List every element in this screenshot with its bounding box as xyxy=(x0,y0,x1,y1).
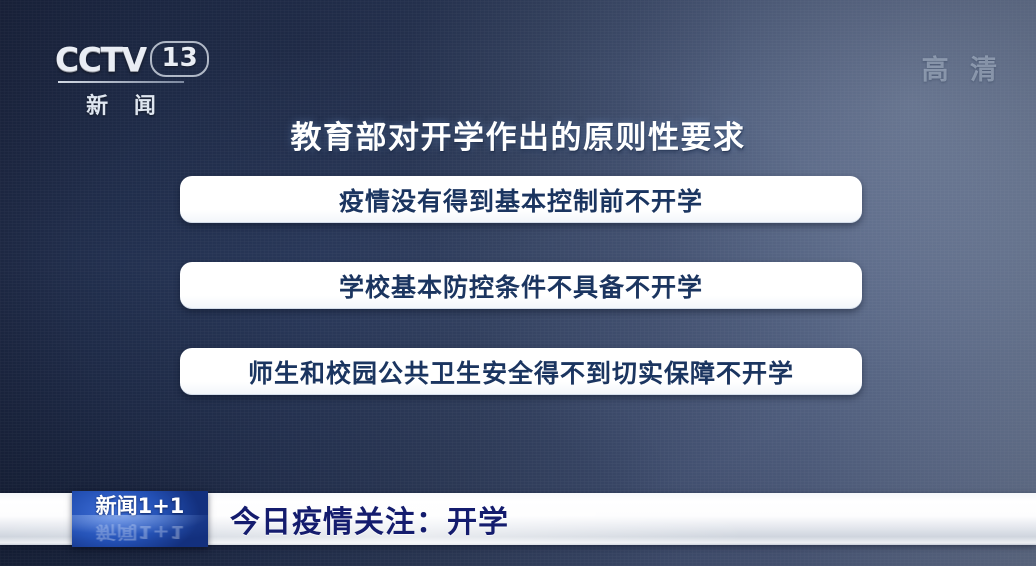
cctv-logo-underline xyxy=(58,81,184,83)
program-logo-glow xyxy=(72,515,208,541)
lower-third-headline: 今日疫情关注：开学 xyxy=(230,491,509,547)
lower-third-banner: 新闻1+1 新闻1+1 今日疫情关注：开学 xyxy=(0,491,1036,547)
program-logo-block: 新闻1+1 新闻1+1 xyxy=(72,491,208,547)
cctv-channel-number-badge: 13 xyxy=(150,41,209,77)
bullet-item-2: 学校基本防控条件不具备不开学 xyxy=(180,262,862,309)
bullet-item-1: 疫情没有得到基本控制前不开学 xyxy=(180,176,862,223)
cctv-wordmark: CCTV xyxy=(55,43,146,76)
bullet-list: 疫情没有得到基本控制前不开学 学校基本防控条件不具备不开学 师生和校园公共卫生安… xyxy=(180,176,862,395)
bullet-item-3-label: 师生和校园公共卫生安全得不到切实保障不开学 xyxy=(248,354,794,390)
hd-quality-watermark: 高 清 xyxy=(922,48,1003,87)
slide-title: 教育部对开学作出的原则性要求 xyxy=(0,112,1036,157)
broadcast-screenshot: CCTV 13 新 闻 高 清 教育部对开学作出的原则性要求 疫情没有得到基本控… xyxy=(0,0,1036,566)
bullet-item-2-label: 学校基本防控条件不具备不开学 xyxy=(339,268,703,304)
bullet-item-3: 师生和校园公共卫生安全得不到切实保障不开学 xyxy=(180,348,862,395)
bullet-item-1-label: 疫情没有得到基本控制前不开学 xyxy=(339,182,703,218)
cctv-logo-row: CCTV 13 xyxy=(55,38,215,80)
cctv13-channel-logo: CCTV 13 新 闻 xyxy=(55,38,215,116)
